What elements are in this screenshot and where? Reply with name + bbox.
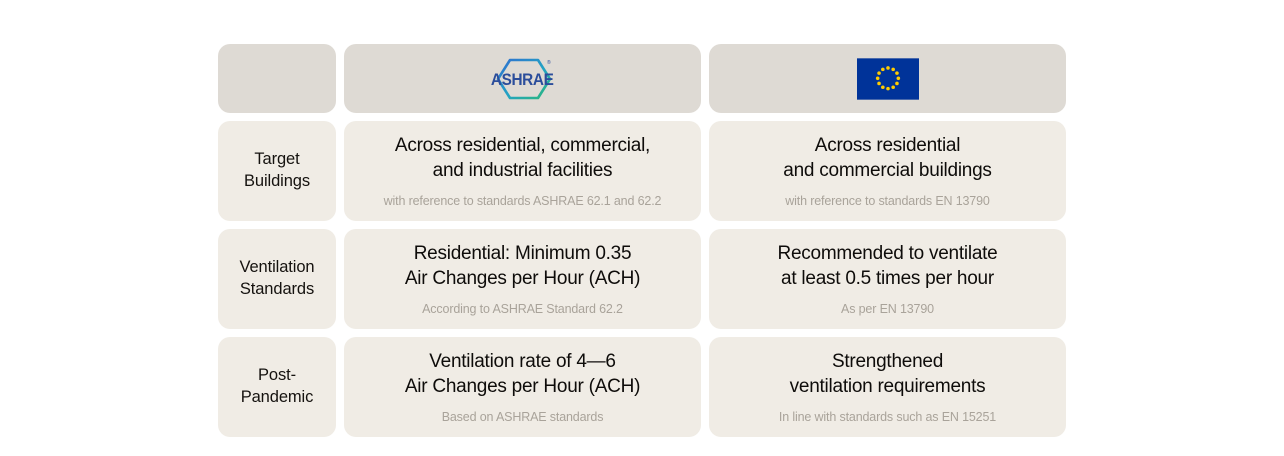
ashrae-logo: ASHRAE ® — [490, 56, 556, 102]
cell-main-line2: ventilation requirements — [790, 376, 986, 397]
table-row: Post- Pandemic Ventilation rate of 4—6 A… — [218, 337, 1066, 437]
cell-subtext: According to ASHRAE Standard 62.2 — [408, 301, 637, 317]
cell-ashrae-post-pandemic: Ventilation rate of 4—6 Air Changes per … — [344, 337, 701, 437]
table-header-row: ASHRAE ® — [218, 44, 1066, 113]
standards-comparison-table: ASHRAE ® — [218, 44, 1066, 437]
svg-text:®: ® — [547, 59, 551, 66]
cell-eu-target-buildings: Across residential and commercial buildi… — [709, 121, 1066, 221]
cell-main-line2: and commercial buildings — [783, 160, 991, 181]
cell-ashrae-ventilation-standards: Residential: Minimum 0.35 Air Changes pe… — [344, 229, 701, 329]
row-label-line1: Ventilation — [239, 258, 314, 276]
row-label-line1: Post- — [258, 366, 296, 384]
cell-main-line2: Air Changes per Hour (ACH) — [405, 268, 640, 289]
cell-main-line1: Strengthened — [832, 351, 943, 372]
row-label-line1: Target — [254, 150, 299, 168]
cell-main-line1: Residential: Minimum 0.35 — [414, 243, 632, 264]
cell-subtext: Based on ASHRAE standards — [428, 409, 618, 425]
row-label-target-buildings: Target Buildings — [218, 121, 336, 221]
table-row: Target Buildings Across residential, com… — [218, 121, 1066, 221]
cell-main-line2: and industrial facilities — [433, 160, 613, 181]
row-label-ventilation-standards: Ventilation Standards — [218, 229, 336, 329]
cell-main-line1: Across residential — [815, 135, 960, 156]
row-label-line2: Standards — [240, 280, 314, 298]
row-label-line2: Buildings — [244, 172, 310, 190]
cell-main-line1: Ventilation rate of 4—6 — [429, 351, 616, 372]
header-cell-ashrae: ASHRAE ® — [344, 44, 701, 113]
header-cell-eu — [709, 44, 1066, 113]
cell-subtext: As per EN 13790 — [827, 301, 948, 317]
cell-ashrae-target-buildings: Across residential, commercial, and indu… — [344, 121, 701, 221]
table-row: Ventilation Standards Residential: Minim… — [218, 229, 1066, 329]
cell-subtext: with reference to standards EN 13790 — [771, 193, 1003, 209]
eu-flag-icon — [857, 57, 919, 101]
row-label-line2: Pandemic — [241, 388, 314, 406]
cell-main-line2: at least 0.5 times per hour — [781, 268, 994, 289]
header-blank-cell — [218, 44, 336, 113]
svg-text:ASHRAE: ASHRAE — [490, 71, 553, 89]
cell-subtext: with reference to standards ASHRAE 62.1 … — [370, 193, 676, 209]
cell-subtext: In line with standards such as EN 15251 — [765, 409, 1010, 425]
cell-eu-post-pandemic: Strengthened ventilation requirements In… — [709, 337, 1066, 437]
cell-eu-ventilation-standards: Recommended to ventilate at least 0.5 ti… — [709, 229, 1066, 329]
cell-main-line1: Across residential, commercial, — [395, 135, 650, 156]
row-label-post-pandemic: Post- Pandemic — [218, 337, 336, 437]
cell-main-line2: Air Changes per Hour (ACH) — [405, 376, 640, 397]
cell-main-line1: Recommended to ventilate — [777, 243, 997, 264]
